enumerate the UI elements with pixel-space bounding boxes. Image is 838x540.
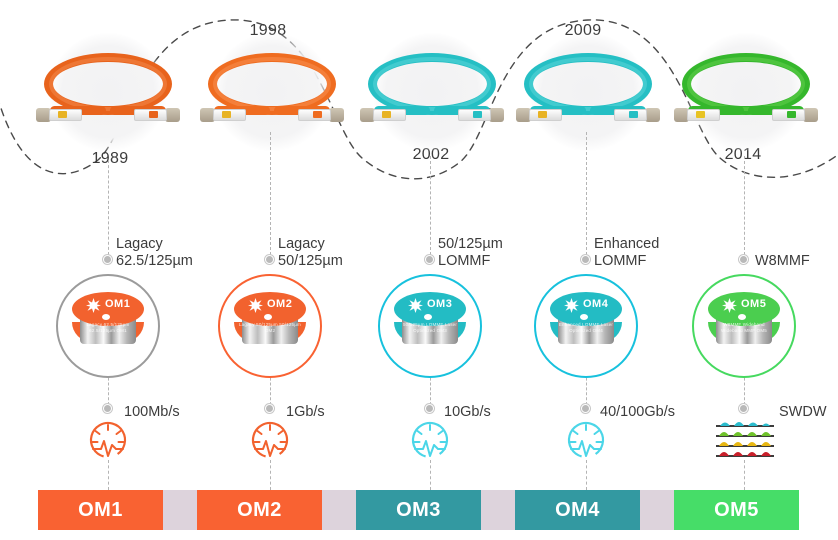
spool-label: OM1 [105,298,130,310]
spool-band-text: Lagacy 62.5/125µm 62.5/125µm OM1 [76,322,140,334]
spool-upper-flange: OM4 [550,292,622,326]
connector-clip [58,111,67,118]
lc-connector-right [772,106,818,124]
connector-clip [382,111,391,118]
spool-label: OM5 [741,298,766,310]
spool-center-hole [102,314,110,320]
speed-dot-om1 [103,404,112,413]
bottom-bar-gap-3 [481,490,515,530]
bottom-bar-label: OM4 [555,499,600,522]
connector-line-om5-bottom [744,460,745,490]
spec-line2: 50/125µm [278,253,343,270]
connector-boot [489,108,504,122]
spool-band-text: W8MMF Wideband Wideband MMF OM5 [712,322,776,334]
connector-line-om1-top [108,160,109,255]
connector-clip [787,111,796,118]
spool-reel: OM5 W8MMF Wideband Wideband MMF OM5 [708,292,780,358]
spool-band-text: Lagacy 50/125µm 50/125µm OM2 [238,322,302,334]
bottom-bar-label: OM5 [714,499,759,522]
lc-connector-right [134,106,180,124]
spec-line2: 62.5/125µm [116,253,193,270]
fiber-spool-om2: OM2 Lagacy 50/125µm 50/125µm OM2 [218,274,322,378]
spool-upper-flange: OM5 [708,292,780,326]
speed-label-om4: 40/100Gb/s [600,404,675,420]
spool-center-hole [580,314,588,320]
spool-upper-flange: OM1 [72,292,144,326]
year-label-om1: 1989 [92,150,129,168]
spool-center-hole [424,314,432,320]
connector-line-om5-top [744,156,745,255]
bottom-bar-om4[interactable]: OM4 [515,490,640,530]
bottom-bar-om5[interactable]: OM5 [674,490,799,530]
connector-line-om3-top [430,156,431,255]
spool-reel: OM3 50/125µm LOMMF Laser Optimized OM3 [394,292,466,358]
speedometer-icon-om4 [564,418,608,462]
speed-label-om1: 100Mb/s [124,404,180,420]
fiber-spool-om3: OM3 50/125µm LOMMF Laser Optimized OM3 [378,274,482,378]
speedometer-icon-om3 [408,418,452,462]
speed-label-om5: SWDW [779,404,827,420]
bottom-bar-om3[interactable]: OM3 [356,490,481,530]
spool-label: OM3 [427,298,452,310]
spec-line1: 50/125µm [438,236,503,253]
spool-band-text: 50/125µm LOMMF Laser Optimized OM3 [398,322,462,334]
infographic-root: 1989 1998 2002 2009 2014 [0,0,838,540]
cable-loop-inner [213,57,331,111]
star-burst-icon [564,298,579,313]
connector-line-om2-bottom [270,460,271,490]
speed-dot-om4 [581,404,590,413]
spec-dot-om3 [425,255,434,264]
bottom-bar-gap-4 [640,490,674,530]
connector-clip [629,111,638,118]
bottom-bar-gap-2 [322,490,356,530]
spec-line1: Lagacy [116,236,193,253]
bottom-bar-gap-1 [163,490,197,530]
cable-loop-inner [687,57,805,111]
connector-boot [645,108,660,122]
spool-label: OM4 [583,298,608,310]
spool-reel: OM2 Lagacy 50/125µm 50/125µm OM2 [234,292,306,358]
connector-boot [803,108,818,122]
spool-reel: OM4 Enhanced LOMMF Laser Optimized OM4 [550,292,622,358]
fiber-spool-om4: OM4 Enhanced LOMMF Laser Optimized OM4 [534,274,638,378]
connector-boot [329,108,344,122]
spec-label-om5: W8MMF [755,253,810,270]
cable-photo-om3 [352,46,512,138]
connector-line-om1-bottom [108,460,109,490]
wdm-spectrum-icon-om5 [714,414,776,460]
cable-photo-om2 [192,46,352,138]
speedometer-icon-om1 [86,418,130,462]
cable-photo-om5 [666,46,826,138]
lc-connector-right [458,106,504,124]
connector-clip [149,111,158,118]
star-burst-icon [722,298,737,313]
spool-upper-flange: OM2 [234,292,306,326]
spec-line2: LOMMF [438,253,503,270]
lc-connector-right [614,106,660,124]
cable-loop-inner [373,57,491,111]
spec-line1: Enhanced [594,236,659,253]
spool-band-text: Enhanced LOMMF Laser Optimized OM4 [554,322,618,334]
speed-dot-om5 [739,404,748,413]
spool-center-hole [738,314,746,320]
spool-center-hole [264,314,272,320]
fiber-spool-om1: OM1 Lagacy 62.5/125µm 62.5/125µm OM1 [56,274,160,378]
cable-loop-inner [49,57,167,111]
spec-line2: LOMMF [594,253,659,270]
connector-boot [165,108,180,122]
connector-line-om4-top [586,132,587,255]
connector-clip [473,111,482,118]
cable-loop-inner [529,57,647,111]
lc-connector-left [36,106,82,124]
lc-connector-left [516,106,562,124]
bottom-bar-om1[interactable]: OM1 [38,490,163,530]
spec-line2: W8MMF [755,253,810,270]
spec-dot-om1 [103,255,112,264]
speed-label-om2: 1Gb/s [286,404,325,420]
star-burst-icon [248,298,263,313]
bottom-bar-label: OM3 [396,499,441,522]
star-burst-icon [408,298,423,313]
spool-upper-flange: OM3 [394,292,466,326]
connector-clip [538,111,547,118]
cable-photo-om1 [28,46,188,138]
lc-connector-left [674,106,720,124]
bottom-bar-om2[interactable]: OM2 [197,490,322,530]
connector-line-om2-top [270,132,271,255]
connector-clip [696,111,705,118]
fiber-spool-om5: OM5 W8MMF Wideband Wideband MMF OM5 [692,274,796,378]
connector-clip [222,111,231,118]
bottom-bar-label: OM1 [78,499,123,522]
spec-dot-om5 [739,255,748,264]
speed-dot-om2 [265,404,274,413]
spool-label: OM2 [267,298,292,310]
connector-line-om3-bottom [430,460,431,490]
spec-dot-om4 [581,255,590,264]
lc-connector-right [298,106,344,124]
bottom-bar-label: OM2 [237,499,282,522]
spec-label-om2: Lagacy 50/125µm [278,236,343,270]
cable-photo-om4 [508,46,668,138]
spec-label-om1: Lagacy 62.5/125µm [116,236,193,270]
spec-label-om3: 50/125µm LOMMF [438,236,503,270]
connector-clip [313,111,322,118]
connector-line-om4-bottom [586,460,587,490]
speed-dot-om3 [425,404,434,413]
star-burst-icon [86,298,101,313]
lc-connector-left [200,106,246,124]
spool-reel: OM1 Lagacy 62.5/125µm 62.5/125µm OM1 [72,292,144,358]
spec-dot-om2 [265,255,274,264]
lc-connector-left [360,106,406,124]
spec-label-om4: Enhanced LOMMF [594,236,659,270]
spec-line1: Lagacy [278,236,343,253]
speedometer-icon-om2 [248,418,292,462]
speed-label-om3: 10Gb/s [444,404,491,420]
